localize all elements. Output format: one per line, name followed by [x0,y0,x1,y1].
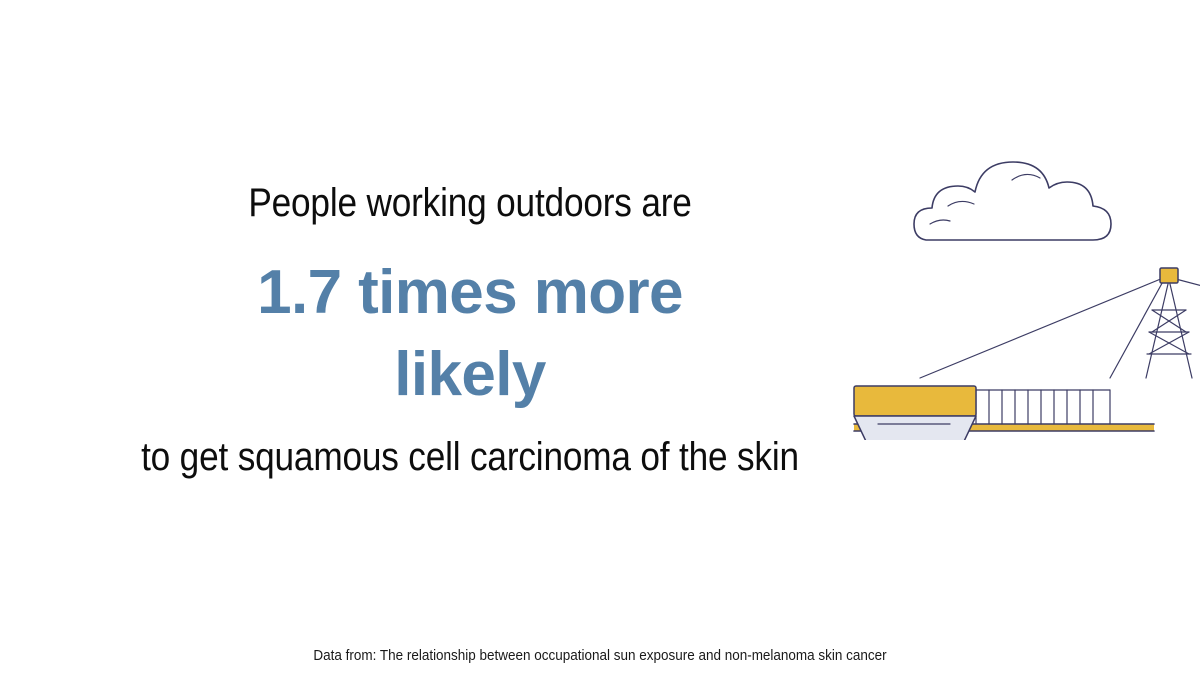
source-citation: Data from: The relationship between occu… [42,648,1158,664]
crane-mast-head [1146,268,1192,378]
statistic-trailing-line: to get squamous cell carcinoma of the sk… [56,434,883,480]
statistic-highlight-value: 1.7 times more likely [190,252,750,416]
construction-crane-illustration: .ln { fill:none; stroke:#3c3c64; stroke-… [780,20,1200,440]
slide-canvas: People working outdoors are 1.7 times mo… [0,0,1200,700]
crane-counter-jib [854,386,1154,440]
crane-counterweight [854,386,976,440]
statistic-lead-line: People working outdoors are [56,180,883,226]
cloud-upper-icon [914,162,1111,240]
